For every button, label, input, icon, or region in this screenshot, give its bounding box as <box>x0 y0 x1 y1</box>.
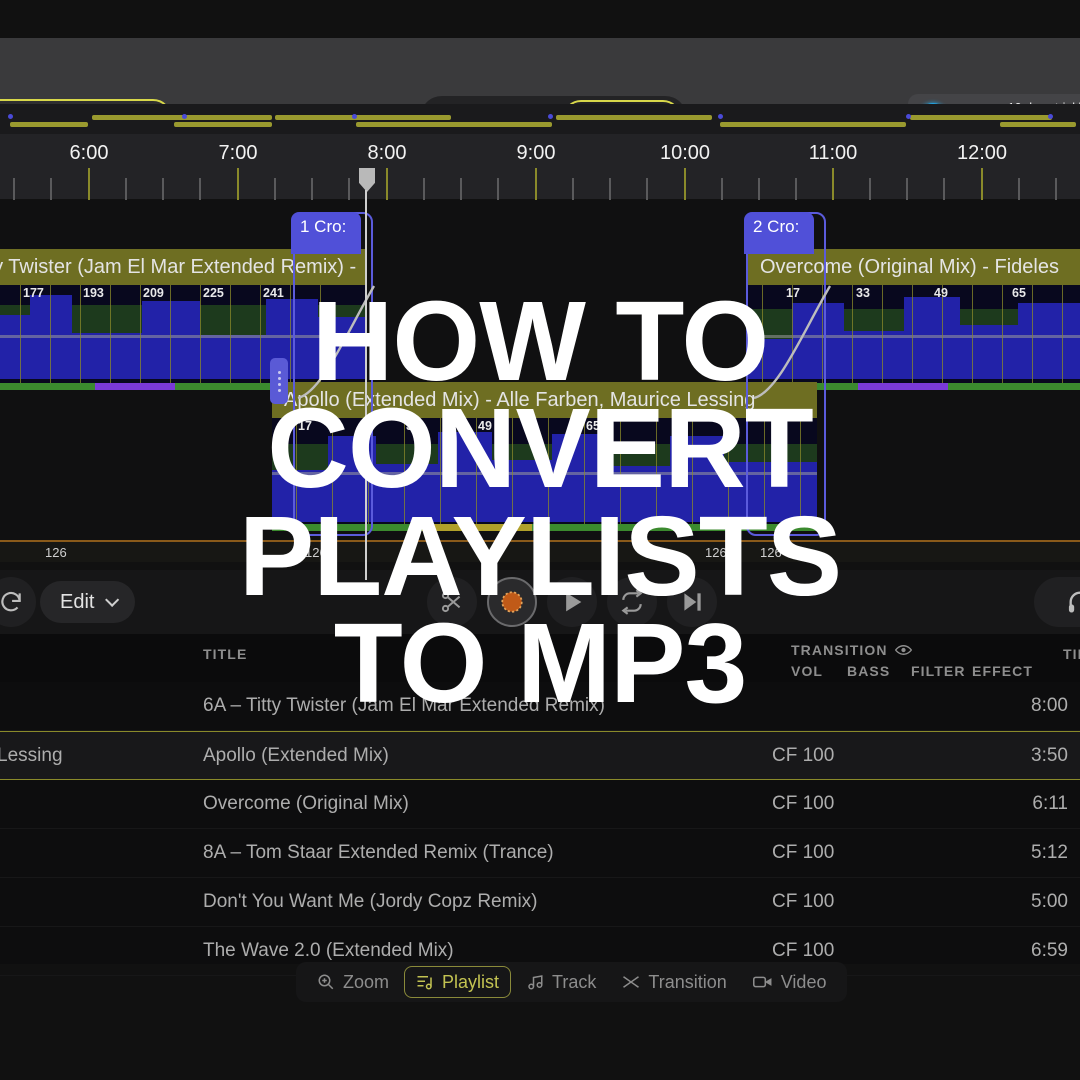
beat-number: 65 <box>586 419 600 433</box>
cut-button[interactable] <box>427 577 477 627</box>
toolbar-label-track: Track <box>552 972 596 993</box>
transition-curve-2 <box>752 280 832 410</box>
ruler-label-11: 11:00 <box>809 142 858 165</box>
table-row[interactable]: Overcome (Original Mix) CF 100 6:11 <box>0 780 1080 829</box>
table-row[interactable]: 6A – Titty Twister (Jam El Mar Extended … <box>0 682 1080 731</box>
beat-number: 209 <box>143 286 164 300</box>
play-button[interactable] <box>547 577 597 627</box>
timeline-ruler[interactable]: 6:00 7:00 8:00 9:00 10:00 11:00 12:00 <box>0 134 1080 200</box>
bpm-value: 126 <box>45 545 67 560</box>
ruler-label-9: 9:00 <box>517 142 556 165</box>
beat-number: 177 <box>23 286 44 300</box>
transition-curve-1 <box>296 280 376 410</box>
ruler-label-12: 12:00 <box>957 142 1007 165</box>
row-title: 8A – Tom Staar Extended Remix (Trance) <box>203 842 554 864</box>
row-crossfade: CF 100 <box>772 745 834 767</box>
toolbar-item-track[interactable]: Track <box>515 966 607 998</box>
record-button[interactable] <box>487 577 537 627</box>
beat-number: 49 <box>478 419 492 433</box>
row-time: 5:00 <box>1031 891 1068 913</box>
row-time: 5:12 <box>1031 842 1068 864</box>
beat-number: 17 <box>298 419 312 433</box>
cut-icon <box>439 589 465 615</box>
toolbar-label-video: Video <box>781 972 827 993</box>
column-header-vol[interactable]: VOL <box>791 663 823 679</box>
beat-number: 193 <box>83 286 104 300</box>
bpm-value: 126 <box>705 545 727 560</box>
play-icon <box>558 588 586 616</box>
beat-number: 49 <box>934 286 948 300</box>
record-icon <box>499 589 525 615</box>
playlist-table[interactable]: TITLE TRANSITION VOL BASS FILTER EFFECT … <box>0 634 1080 964</box>
marker-ribbon[interactable] <box>0 104 1080 134</box>
energy-strip-track-c <box>272 524 817 531</box>
toolbar-item-playlist[interactable]: Playlist <box>404 966 511 998</box>
table-row[interactable]: orsten 8A – Tom Staar Extended Remix (Tr… <box>0 829 1080 878</box>
shuffle-icon <box>622 973 640 991</box>
bottom-toolbar: Zoom Playlist Track Transition <box>296 962 847 1002</box>
playhead-line <box>365 190 367 580</box>
row-crossfade: CF 100 <box>772 940 834 962</box>
column-header-transition[interactable]: TRANSITION <box>791 642 912 658</box>
edit-label: Edit <box>60 591 94 614</box>
top-toolbar: Electric Vision 4 Carousel Studio MIXED … <box>0 38 1080 104</box>
column-header-effect[interactable]: EFFECT <box>972 663 1033 679</box>
ruler-label-7: 7:00 <box>219 142 258 165</box>
column-header-filter[interactable]: FILTER <box>911 663 966 679</box>
edit-menu-button[interactable]: Edit <box>40 581 135 623</box>
beat-number: 241 <box>263 286 284 300</box>
beat-number: 65 <box>1012 286 1026 300</box>
row-crossfade: CF 100 <box>772 842 834 864</box>
redo-icon <box>0 589 24 615</box>
toolbar-label-zoom: Zoom <box>343 972 389 993</box>
loop-button[interactable] <box>607 577 657 627</box>
skip-next-icon <box>679 589 705 615</box>
beat-number: 33 <box>856 286 870 300</box>
bpm-row: 126 126 126 126 <box>0 540 1080 562</box>
transition-label: TRANSITION <box>791 642 888 658</box>
timeline-lanes[interactable]: tty Twister (Jam El Mar Extended Remix) … <box>0 200 1080 548</box>
bpm-value: 126 <box>760 545 782 560</box>
row-crossfade: CF 100 <box>772 793 834 815</box>
eye-icon <box>895 644 912 656</box>
toolbar-item-video[interactable]: Video <box>742 966 838 998</box>
video-camera-icon <box>753 974 773 990</box>
playlist-icon <box>416 973 434 991</box>
column-header-title[interactable]: TITLE <box>203 646 247 662</box>
table-header-row: TITLE TRANSITION VOL BASS FILTER EFFECT … <box>0 634 1080 682</box>
table-row[interactable]: oz Don't You Want Me (Jordy Copz Remix) … <box>0 878 1080 927</box>
chevron-down-icon <box>106 593 120 607</box>
row-time: 6:11 <box>1032 793 1068 815</box>
row-crossfade: CF 100 <box>772 891 834 913</box>
toolbar-label-playlist: Playlist <box>442 972 499 993</box>
cue-marker-1[interactable]: 1 Cro: <box>291 212 361 254</box>
column-header-bass[interactable]: BASS <box>847 663 890 679</box>
redo-button[interactable] <box>0 577 36 627</box>
row-time: 8:00 <box>1031 695 1068 717</box>
transport-bar: Edit <box>0 570 1080 634</box>
zoom-in-icon <box>317 973 335 991</box>
loop-icon <box>619 589 645 615</box>
row-time: 6:59 <box>1031 940 1068 962</box>
row-title: Don't You Want Me (Jordy Copz Remix) <box>203 891 538 913</box>
row-time: 3:50 <box>1031 745 1068 767</box>
row-title: Apollo (Extended Mix) <box>203 745 389 767</box>
skip-next-button[interactable] <box>667 577 717 627</box>
row-title: Overcome (Original Mix) <box>203 793 409 815</box>
ruler-label-8: 8:00 <box>368 142 407 165</box>
column-header-time[interactable]: TIM <box>1063 646 1080 662</box>
row-title: The Wave 2.0 (Extended Mix) <box>203 940 454 962</box>
toolbar-item-zoom[interactable]: Zoom <box>306 966 400 998</box>
ruler-label-6: 6:00 <box>70 142 109 165</box>
toolbar-item-transition[interactable]: Transition <box>611 966 737 998</box>
music-note-icon <box>526 973 544 991</box>
row-title: 6A – Titty Twister (Jam El Mar Extended … <box>203 695 605 717</box>
row-artist: aurice Lessing <box>0 745 63 767</box>
beat-number: 225 <box>203 286 224 300</box>
toolbar-label-transition: Transition <box>648 972 726 993</box>
table-row[interactable]: aurice Lessing Apollo (Extended Mix) CF … <box>0 731 1080 780</box>
headphones-button[interactable] <box>1034 577 1080 627</box>
mashup-app-window: Electric Vision 4 Carousel Studio MIXED … <box>0 0 1080 1080</box>
fade-handle-1[interactable] <box>270 358 288 404</box>
cue-marker-2[interactable]: 2 Cro: <box>744 212 814 254</box>
headphones-icon <box>1066 588 1080 616</box>
beat-number: 33 <box>406 419 420 433</box>
waveform-track-c[interactable]: 17 33 49 65 <box>272 418 817 530</box>
ruler-label-10: 10:00 <box>660 142 710 165</box>
bpm-value: 126 <box>305 545 327 560</box>
